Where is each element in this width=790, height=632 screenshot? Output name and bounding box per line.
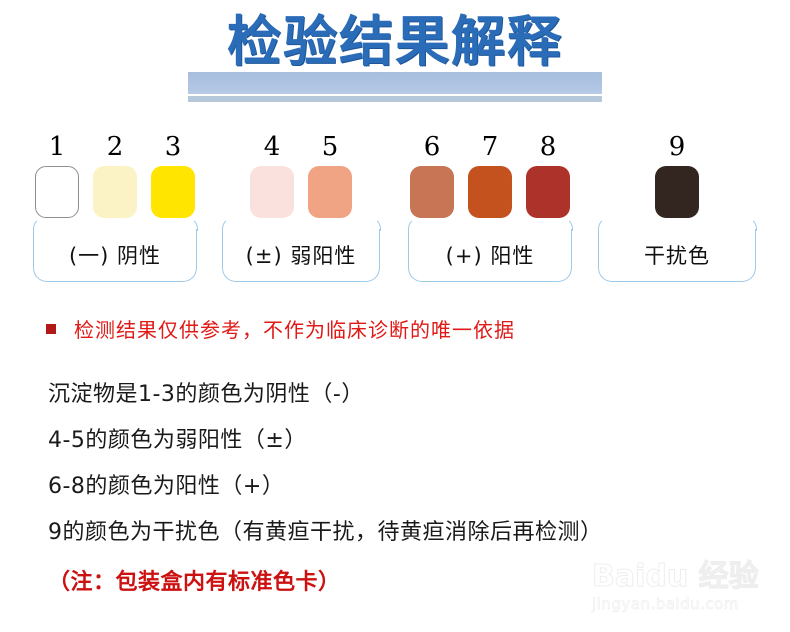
color-swatch[interactable] bbox=[250, 166, 294, 218]
explanation-list: 沉淀物是1-3的颜色为阴性（-）4-5的颜色为弱阳性（±）6-8的颜色为阳性（+… bbox=[48, 372, 788, 606]
color-swatch[interactable] bbox=[655, 166, 699, 218]
group-label: (+) 阳性 bbox=[446, 240, 535, 270]
swatch-cell[interactable]: 6 bbox=[409, 132, 455, 218]
swatch-row: 9 bbox=[598, 132, 756, 218]
swatch-group: 9干扰色 bbox=[598, 132, 756, 282]
swatch-cell[interactable]: 5 bbox=[307, 132, 353, 218]
swatch-number: 3 bbox=[165, 132, 182, 162]
group-label-box: (一) 阴性 bbox=[33, 229, 197, 282]
swatch-number: 5 bbox=[322, 132, 339, 162]
group-label: (一) 阴性 bbox=[69, 240, 161, 270]
explanation-line: 4-5的颜色为弱阳性（±） bbox=[48, 418, 788, 464]
swatch-cell[interactable]: 1 bbox=[34, 132, 80, 218]
note-line: （注：包装盒内有标准色卡） bbox=[48, 560, 788, 606]
swatch-cell[interactable]: 2 bbox=[92, 132, 138, 218]
explanation-line: 9的颜色为干扰色（有黄疸干扰，待黄疸消除后再检测） bbox=[48, 510, 788, 556]
color-chart: 123(一) 阴性45(±) 弱阳性678(+) 阳性9干扰色 bbox=[0, 132, 790, 282]
bullet-square-icon bbox=[46, 324, 56, 334]
swatch-number: 8 bbox=[540, 132, 557, 162]
swatch-group: 45(±) 弱阳性 bbox=[222, 132, 380, 282]
swatch-cell[interactable]: 7 bbox=[467, 132, 513, 218]
color-swatch[interactable] bbox=[410, 166, 454, 218]
swatch-group: 678(+) 阳性 bbox=[408, 132, 572, 282]
group-label: 干扰色 bbox=[644, 240, 710, 270]
color-swatch[interactable] bbox=[526, 166, 570, 218]
group-label-box: (+) 阳性 bbox=[408, 229, 572, 282]
swatch-cell[interactable]: 4 bbox=[249, 132, 295, 218]
color-swatch[interactable] bbox=[35, 166, 79, 218]
color-swatch[interactable] bbox=[468, 166, 512, 218]
warning-row: 检测结果仅供参考，不作为临床诊断的唯一依据 bbox=[46, 314, 515, 343]
swatch-row: 678 bbox=[408, 132, 572, 218]
swatch-number: 6 bbox=[424, 132, 441, 162]
swatch-cell[interactable]: 3 bbox=[150, 132, 196, 218]
swatch-group: 123(一) 阴性 bbox=[33, 132, 197, 282]
color-swatch[interactable] bbox=[151, 166, 195, 218]
swatch-cell[interactable]: 9 bbox=[654, 132, 700, 218]
page-title: 检验结果解释 bbox=[0, 14, 790, 71]
swatch-number: 2 bbox=[107, 132, 124, 162]
swatch-number: 4 bbox=[264, 132, 281, 162]
swatch-cell[interactable]: 8 bbox=[525, 132, 571, 218]
swatch-number: 1 bbox=[49, 132, 66, 162]
swatch-row: 123 bbox=[33, 132, 197, 218]
group-label: (±) 弱阳性 bbox=[246, 240, 357, 270]
color-swatch[interactable] bbox=[93, 166, 137, 218]
explanation-line: 6-8的颜色为阳性（+） bbox=[48, 464, 788, 510]
color-swatch[interactable] bbox=[308, 166, 352, 218]
swatch-number: 9 bbox=[669, 132, 686, 162]
group-label-box: (±) 弱阳性 bbox=[222, 229, 380, 282]
group-label-box: 干扰色 bbox=[598, 229, 756, 282]
explanation-line: 沉淀物是1-3的颜色为阴性（-） bbox=[48, 372, 788, 418]
title-band-underline bbox=[188, 96, 602, 102]
page-title-area: 检验结果解释 bbox=[0, 0, 790, 118]
warning-text: 检测结果仅供参考，不作为临床诊断的唯一依据 bbox=[74, 314, 515, 343]
swatch-number: 7 bbox=[482, 132, 499, 162]
swatch-row: 45 bbox=[222, 132, 380, 218]
title-band bbox=[188, 72, 602, 94]
